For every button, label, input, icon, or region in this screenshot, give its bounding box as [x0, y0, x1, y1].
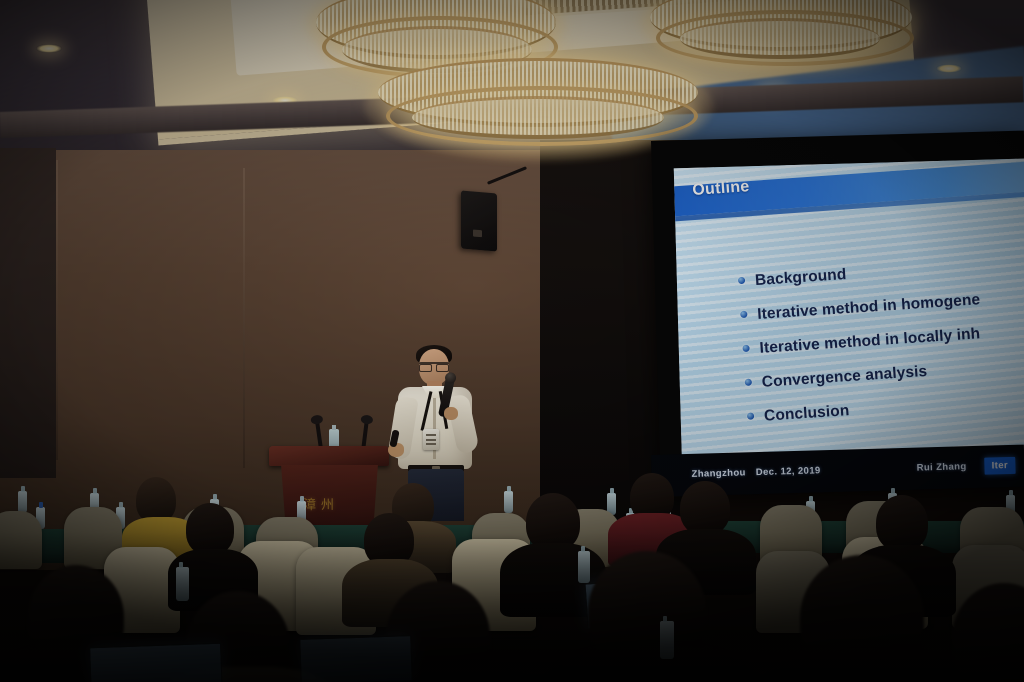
list-item: Iterative method in locally inh	[742, 319, 1024, 359]
chair	[0, 511, 42, 569]
water-bottle	[660, 621, 674, 659]
bullet-dot-icon	[742, 345, 749, 352]
downlight-icon	[36, 44, 62, 53]
water-bottle	[176, 567, 189, 601]
audience-shoulders-foreground	[546, 645, 758, 682]
bullet-dot-icon	[738, 277, 745, 284]
wall-seam	[56, 160, 58, 460]
laptop-screen	[89, 643, 223, 682]
left-wall-dark-panel	[0, 148, 56, 478]
water-bottle	[504, 491, 513, 513]
bullet-label: Iterative method in homogene	[757, 291, 981, 324]
downlight-icon	[936, 64, 962, 73]
bullet-label: Conclusion	[764, 402, 850, 426]
projection-screen: Outline Background Iterative method in h…	[651, 131, 1024, 497]
audience-area	[0, 455, 1024, 682]
laptop-screen	[299, 635, 413, 682]
list-item: Convergence analysis	[744, 352, 1024, 392]
bullet-dot-icon	[740, 311, 747, 318]
audience-head	[876, 495, 928, 551]
wall-seam	[243, 168, 245, 468]
name-badge	[423, 429, 439, 450]
presenter-right-hand	[444, 407, 458, 420]
slide-bullet-list: Background Iterative method in homogene …	[738, 251, 1024, 443]
bullet-label: Convergence analysis	[761, 363, 928, 392]
water-bottle	[578, 551, 590, 583]
conference-photo-scene: Outline Background Iterative method in h…	[0, 0, 1024, 682]
audience-head	[186, 503, 234, 555]
bullet-label: Iterative method in locally inh	[759, 325, 981, 358]
bullet-dot-icon	[745, 379, 752, 386]
glasses-icon	[419, 362, 449, 370]
wall-speaker-icon	[461, 190, 497, 251]
list-item: Conclusion	[747, 386, 1024, 426]
bullet-dot-icon	[747, 412, 754, 419]
audience-shoulders-foreground	[762, 651, 982, 682]
list-item: Iterative method in homogene	[740, 285, 1024, 325]
audience-head	[680, 481, 730, 535]
presentation-slide: Outline Background Iterative method in h…	[674, 158, 1024, 482]
water-bottle	[18, 491, 27, 513]
